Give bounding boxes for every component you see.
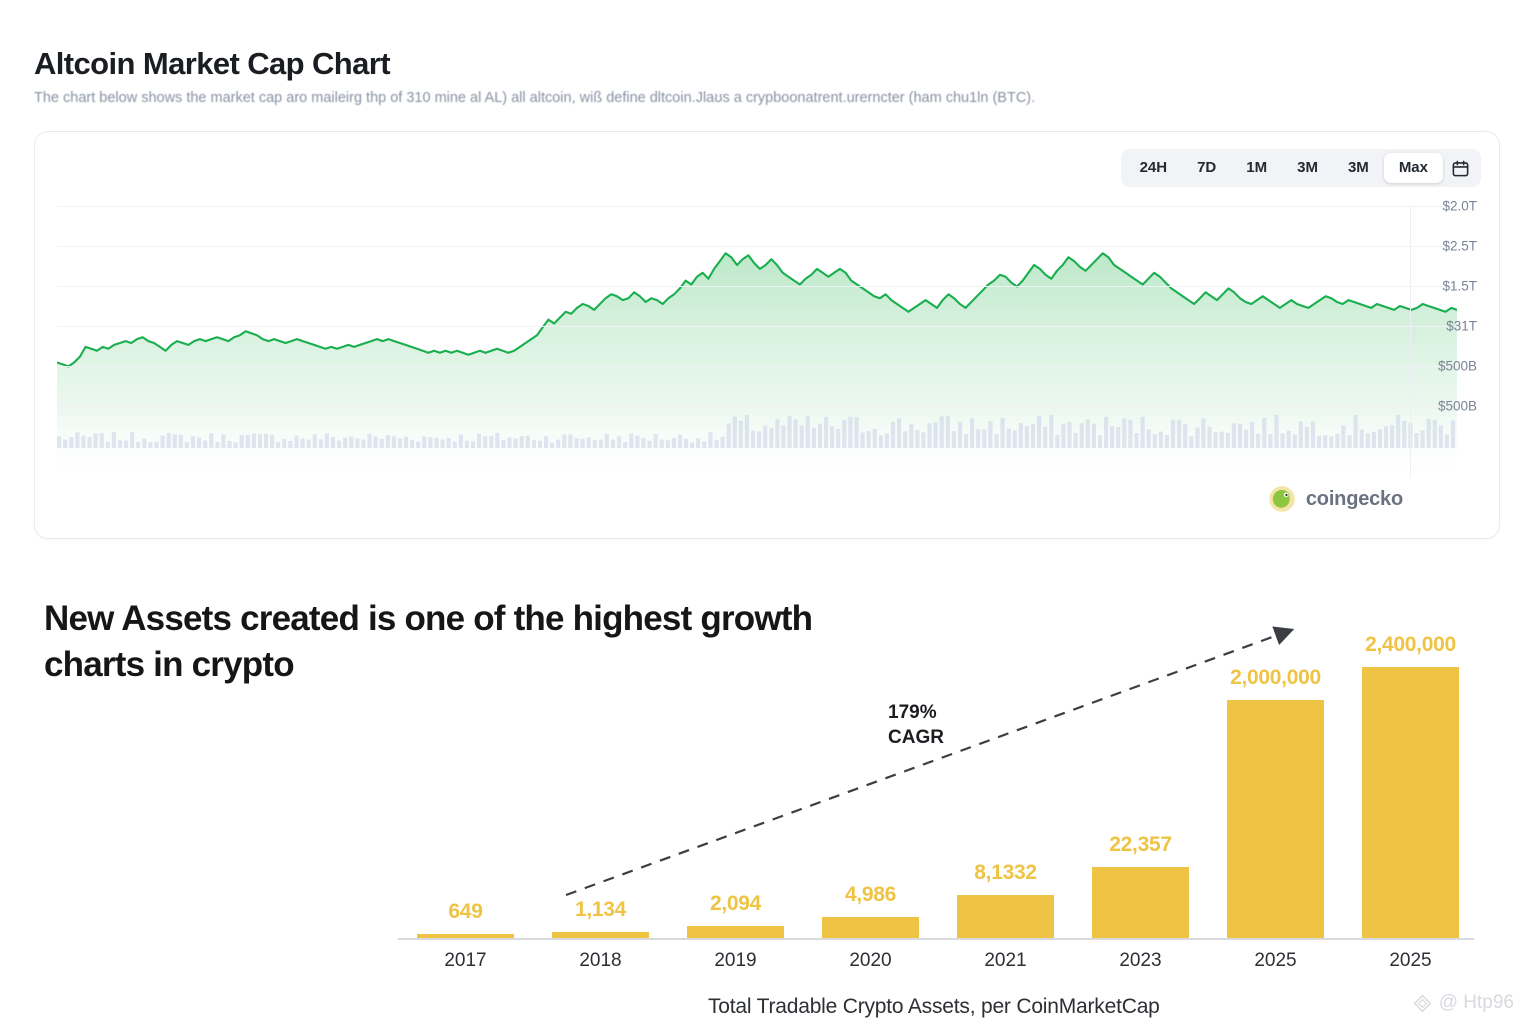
volume-bars bbox=[57, 414, 1457, 448]
bar[interactable] bbox=[1362, 667, 1459, 938]
bar-value-label: 4,986 bbox=[845, 883, 896, 907]
bar[interactable] bbox=[1227, 700, 1324, 938]
bar-value-label: 22,357 bbox=[1109, 833, 1171, 857]
page-subtitle: The chart below shows the market cap aro… bbox=[34, 90, 1035, 106]
cagr-value: 179% bbox=[888, 700, 944, 725]
bar[interactable] bbox=[687, 926, 784, 938]
bar[interactable] bbox=[552, 932, 649, 938]
bar-category-label: 2020 bbox=[849, 950, 891, 972]
bar-category-label: 2025 bbox=[1254, 950, 1296, 972]
diamond-icon bbox=[1412, 993, 1433, 1014]
range-button-24h[interactable]: 24H bbox=[1125, 153, 1183, 183]
gecko-icon bbox=[1267, 484, 1297, 514]
y-axis-tick: $500B bbox=[1438, 399, 1477, 414]
time-range-selector[interactable]: 24H 7D 1M 3M 3M Max bbox=[1121, 149, 1481, 187]
bar[interactable] bbox=[957, 895, 1054, 938]
bar[interactable] bbox=[1092, 867, 1189, 938]
cagr-annotation: 179% CAGR bbox=[888, 700, 944, 750]
chart-caption: Total Tradable Crypto Assets, per CoinMa… bbox=[708, 995, 1160, 1019]
page-root: Altcoin Market Cap Chart The chart below… bbox=[0, 0, 1536, 1024]
bar-value-label: 2,000,000 bbox=[1230, 666, 1321, 690]
new-assets-bar-chart[interactable]: 64920171,13420182,09420194,98620208,1332… bbox=[398, 560, 1478, 980]
range-button-max[interactable]: Max bbox=[1384, 153, 1443, 183]
bar-category-label: 2023 bbox=[1119, 950, 1161, 972]
y-axis-labels: $2.0T$2.5T$1.5T$31T$500B$500B bbox=[1369, 206, 1489, 476]
bar-value-label: 1,134 bbox=[575, 898, 626, 922]
x-axis-line bbox=[398, 938, 1474, 940]
chart-card: 24H 7D 1M 3M 3M Max bbox=[34, 131, 1500, 539]
coingecko-watermark: coingecko bbox=[1267, 484, 1403, 514]
y-axis-tick: $1.5T bbox=[1442, 279, 1477, 294]
bar-category-label: 2017 bbox=[444, 950, 486, 972]
y-axis-tick: $2.5T bbox=[1442, 239, 1477, 254]
bar[interactable] bbox=[417, 934, 514, 938]
bar-category-label: 2018 bbox=[579, 950, 621, 972]
bar-category-label: 2021 bbox=[984, 950, 1026, 972]
calendar-icon[interactable] bbox=[1443, 153, 1477, 183]
bar-value-label: 2,094 bbox=[710, 892, 761, 916]
author-handle: @ Htp96 bbox=[1439, 992, 1514, 1014]
y-axis-tick: $2.0T bbox=[1442, 199, 1477, 214]
author-watermark: @ Htp96 bbox=[1412, 992, 1514, 1014]
page-title: Altcoin Market Cap Chart bbox=[34, 46, 390, 82]
bar-value-label: 649 bbox=[448, 900, 482, 924]
price-area-chart[interactable] bbox=[57, 206, 1457, 476]
bar[interactable] bbox=[822, 917, 919, 938]
range-button-1m[interactable]: 1M bbox=[1231, 153, 1282, 183]
range-button-3m-b[interactable]: 3M bbox=[1333, 153, 1384, 183]
bar-value-label: 2,400,000 bbox=[1365, 633, 1456, 657]
bar-category-label: 2025 bbox=[1389, 950, 1431, 972]
y-axis-tick: $500B bbox=[1438, 359, 1477, 374]
range-button-7d[interactable]: 7D bbox=[1182, 153, 1231, 183]
coingecko-label: coingecko bbox=[1306, 488, 1403, 511]
cagr-label: CAGR bbox=[888, 725, 944, 750]
y-axis-tick: $31T bbox=[1446, 319, 1477, 334]
bar-category-label: 2019 bbox=[714, 950, 756, 972]
bar-value-label: 8,1332 bbox=[974, 861, 1036, 885]
range-button-3m-a[interactable]: 3M bbox=[1282, 153, 1333, 183]
